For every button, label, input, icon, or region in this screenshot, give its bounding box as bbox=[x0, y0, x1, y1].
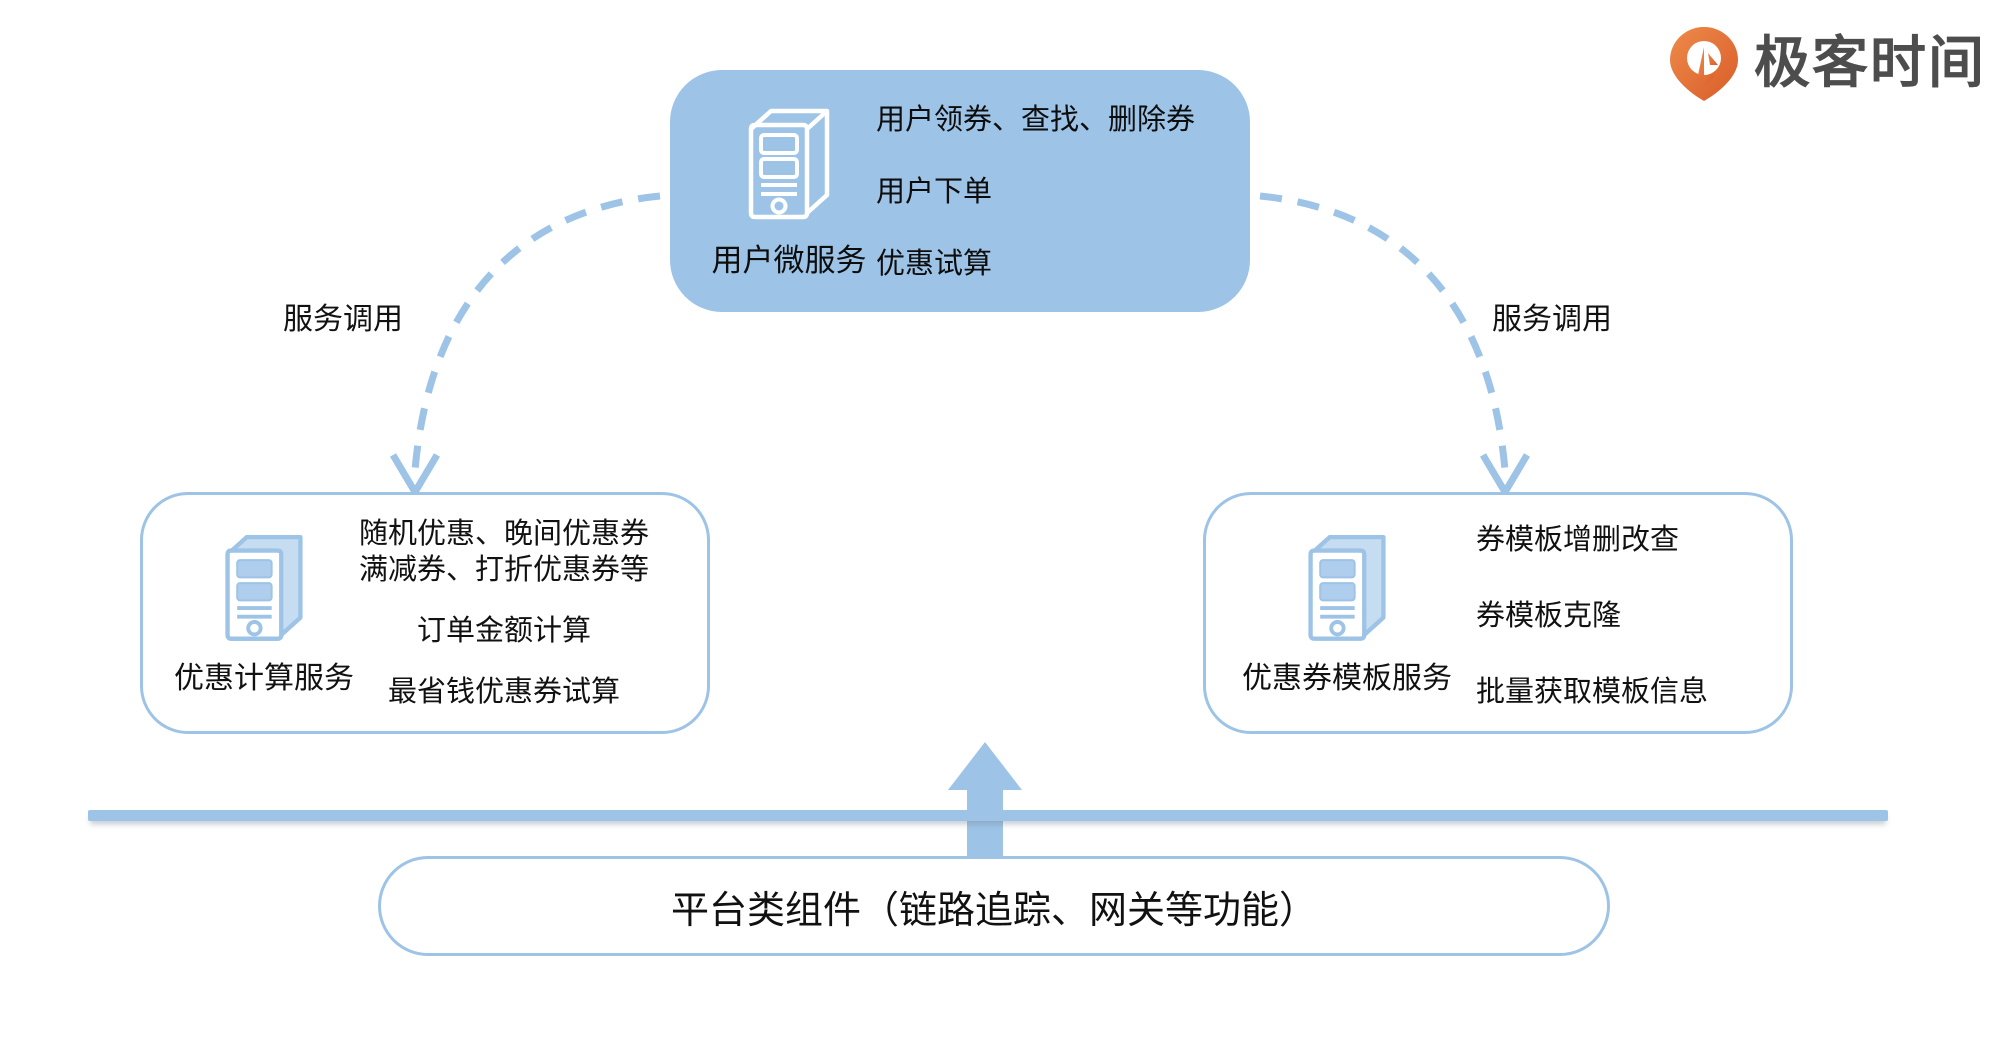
feature-item: 券模板增删改查 bbox=[1476, 516, 1708, 558]
feature-list-template: 券模板增删改查 券模板克隆 批量获取模板信息 bbox=[1476, 516, 1708, 710]
service-box-user[interactable]: 用户微服务 用户领券、查找、删除券 用户下单 优惠试算 bbox=[670, 70, 1250, 312]
feature-item: 满减券、打折优惠券等 bbox=[359, 552, 649, 587]
service-name-calc: 优惠计算服务 bbox=[174, 653, 354, 697]
platform-label: 平台类组件（链路追踪、网关等功能） bbox=[671, 879, 1317, 934]
edge-label-left: 服务调用 bbox=[283, 294, 403, 338]
service-box-template[interactable]: 优惠券模板服务 券模板增删改查 券模板克隆 批量获取模板信息 bbox=[1203, 492, 1793, 734]
geektime-pin-icon bbox=[1668, 25, 1740, 103]
platform-bus-line bbox=[88, 810, 1888, 821]
service-identity-template: 优惠券模板服务 bbox=[1240, 529, 1454, 697]
feature-item: 订单金额计算 bbox=[417, 613, 591, 648]
diagram-canvas: 用户微服务 用户领券、查找、删除券 用户下单 优惠试算 服务调用 服务调用 bbox=[0, 0, 2000, 1039]
service-box-calc[interactable]: 优惠计算服务 随机优惠、晚间优惠券 满减券、打折优惠券等 订单金额计算 最省钱优… bbox=[140, 492, 710, 734]
feature-item: 用户领券、查找、删除券 bbox=[876, 96, 1195, 138]
brand-name: 极客时间 bbox=[1754, 25, 1986, 103]
feature-item: 用户下单 bbox=[876, 168, 1195, 210]
service-name-template: 优惠券模板服务 bbox=[1242, 653, 1452, 697]
feature-list-calc: 随机优惠、晚间优惠券 满减券、打折优惠券等 订单金额计算 最省钱优惠券试算 bbox=[359, 516, 649, 710]
connector-user-to-calc bbox=[415, 196, 660, 470]
up-arrow-icon bbox=[948, 742, 1022, 863]
connector-user-to-template bbox=[1260, 196, 1505, 470]
feature-item: 最省钱优惠券试算 bbox=[388, 674, 620, 709]
service-identity-calc: 优惠计算服务 bbox=[173, 529, 355, 697]
service-name-user: 用户微服务 bbox=[712, 235, 867, 280]
server-icon bbox=[218, 529, 310, 647]
feature-item: 券模板克隆 bbox=[1476, 592, 1708, 634]
feature-item: 批量获取模板信息 bbox=[1476, 668, 1708, 710]
platform-components-box[interactable]: 平台类组件（链路追踪、网关等功能） bbox=[378, 856, 1610, 956]
feature-group: 随机优惠、晚间优惠券 满减券、打折优惠券等 bbox=[359, 516, 649, 587]
service-identity-user: 用户微服务 bbox=[716, 103, 862, 280]
feature-item: 随机优惠、晚间优惠券 bbox=[359, 516, 649, 551]
feature-list-user: 用户领券、查找、删除券 用户下单 优惠试算 bbox=[876, 96, 1195, 286]
server-icon bbox=[741, 103, 837, 225]
feature-item: 优惠试算 bbox=[876, 240, 1195, 282]
arrowhead-template bbox=[1483, 455, 1527, 492]
edge-label-right: 服务调用 bbox=[1492, 294, 1612, 338]
brand-logo: 极客时间 bbox=[1668, 22, 1978, 106]
arrowhead-calc bbox=[393, 455, 437, 492]
server-icon bbox=[1301, 529, 1393, 647]
